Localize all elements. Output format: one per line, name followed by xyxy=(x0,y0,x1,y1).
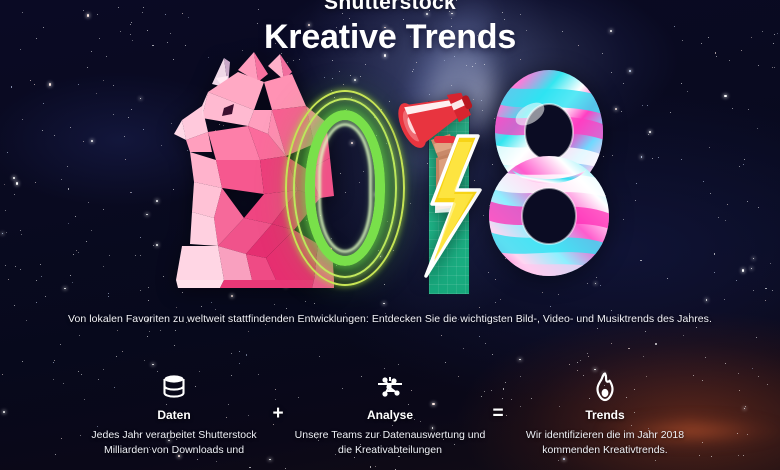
digit-0-neon-icon xyxy=(285,90,405,286)
column-label: Analyse xyxy=(290,408,490,422)
column-trends: Trends Wir identifizieren die im Jahr 20… xyxy=(505,372,705,458)
flame-icon xyxy=(505,372,705,402)
column-daten: Daten Jedes Jahr verarbeitet Shutterstoc… xyxy=(74,372,274,458)
column-label: Daten xyxy=(74,408,274,422)
digit-8-holographic-icon xyxy=(486,66,612,278)
operator-plus: + xyxy=(265,404,291,423)
database-icon xyxy=(74,372,274,402)
column-description: Unsere Teams zur Datenauswertung und die… xyxy=(290,428,490,458)
column-analyse: Analyse Unsere Teams zur Datenauswertung… xyxy=(290,372,490,458)
analysis-nodes-icon xyxy=(290,372,490,402)
brand-top-clipped: Shutterstock xyxy=(0,0,780,15)
process-columns: Daten Jedes Jahr verarbeitet Shutterstoc… xyxy=(0,372,780,470)
hero-banner: Shutterstock Kreative Trends xyxy=(0,0,780,470)
column-label: Trends xyxy=(505,408,705,422)
column-description: Wir identifizieren die im Jahr 2018 komm… xyxy=(505,428,705,458)
hero-subtitle: Von lokalen Favoriten zu weltweit stattf… xyxy=(0,313,780,325)
year-2018-graphic xyxy=(168,48,612,294)
column-description: Jedes Jahr verarbeitet Shutterstock Mill… xyxy=(74,428,274,458)
